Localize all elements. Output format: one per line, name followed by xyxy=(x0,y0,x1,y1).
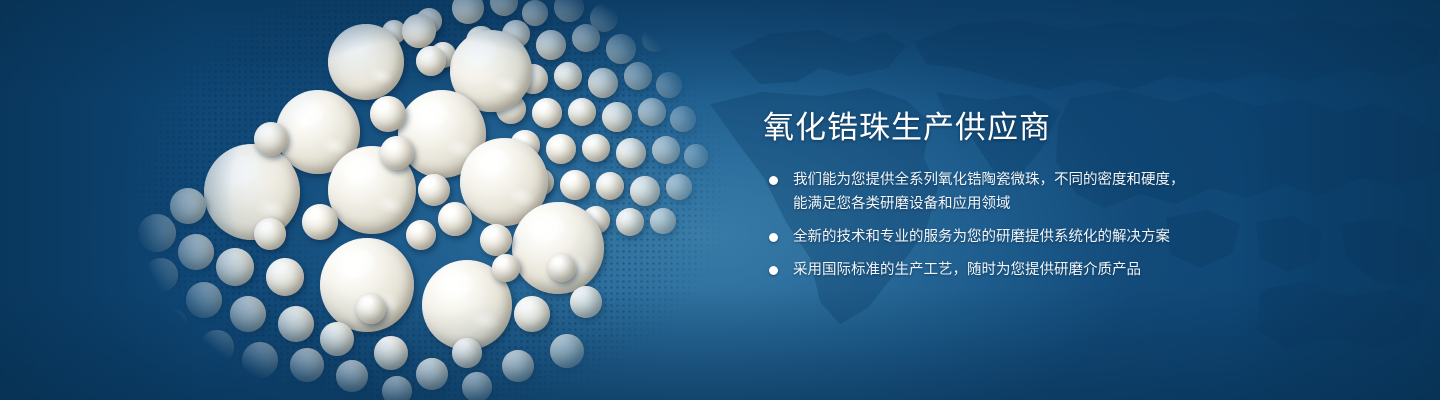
list-item: 全新的技术和专业的服务为您的研磨提供系统化的解决方案 xyxy=(766,225,1306,249)
list-item: 采用国际标准的生产工艺，随时为您提供研磨介质产品 xyxy=(766,258,1306,282)
banner-content: 氧化锆珠生产供应商 我们能为您提供全系列氧化锆陶瓷微珠，不同的密度和硬度， 能满… xyxy=(763,0,1323,400)
hero-banner: 氧化锆珠生产供应商 我们能为您提供全系列氧化锆陶瓷微珠，不同的密度和硬度， 能满… xyxy=(0,0,1440,400)
list-item-line: 采用国际标准的生产工艺，随时为您提供研磨介质产品 xyxy=(793,258,1306,282)
list-item-line: 全新的技术和专业的服务为您的研磨提供系统化的解决方案 xyxy=(793,225,1306,249)
page-title: 氧化锆珠生产供应商 xyxy=(763,108,1051,148)
bullet-dot-icon xyxy=(769,266,778,275)
feature-list: 我们能为您提供全系列氧化锆陶瓷微珠，不同的密度和硬度， 能满足您各类研磨设备和应… xyxy=(766,168,1306,282)
bullet-dot-icon xyxy=(769,233,778,242)
zirconia-beads-photo xyxy=(130,0,730,400)
list-item: 我们能为您提供全系列氧化锆陶瓷微珠，不同的密度和硬度， 能满足您各类研磨设备和应… xyxy=(766,168,1306,216)
list-item-line: 我们能为您提供全系列氧化锆陶瓷微珠，不同的密度和硬度， xyxy=(793,168,1306,192)
list-item-line: 能满足您各类研磨设备和应用领域 xyxy=(793,192,1306,216)
bullet-dot-icon xyxy=(769,176,778,185)
